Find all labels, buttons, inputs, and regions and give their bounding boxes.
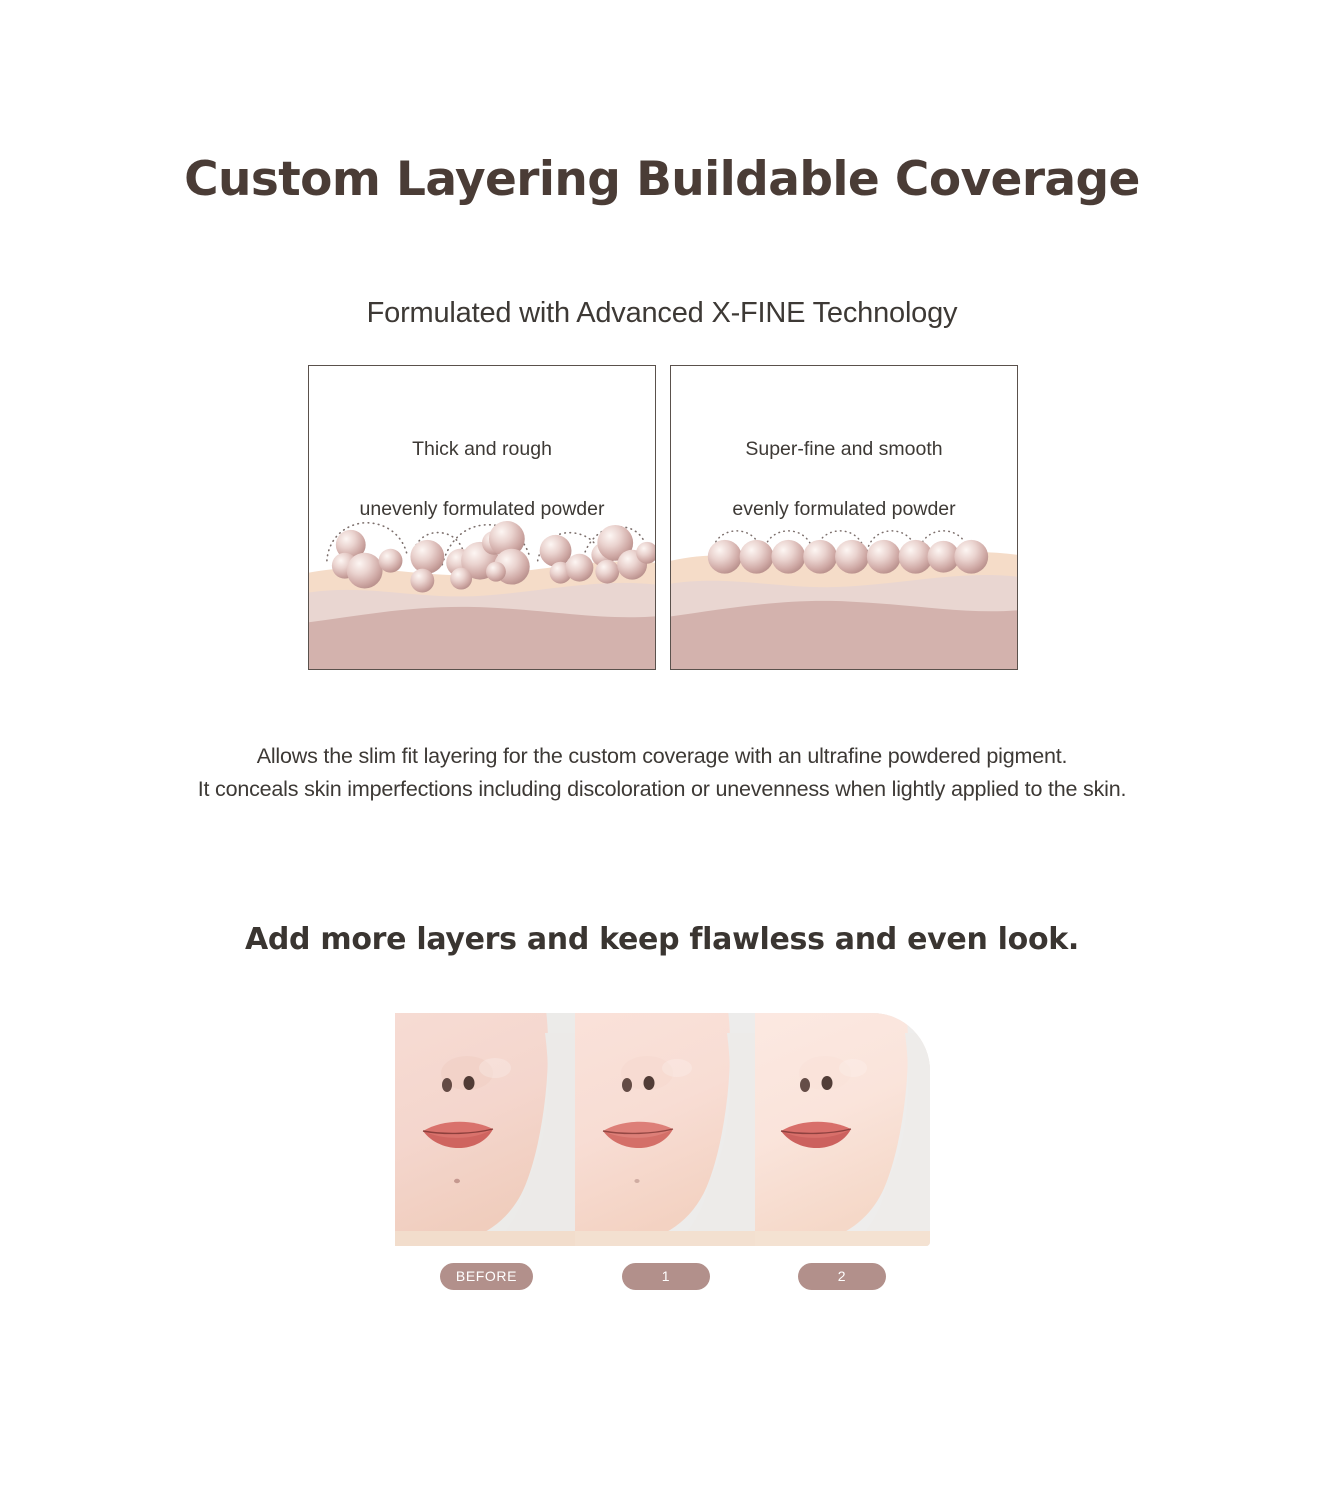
label-before: BEFORE xyxy=(440,1263,533,1290)
face-photo-icon xyxy=(575,1013,755,1246)
face-photo-icon xyxy=(755,1013,930,1246)
panel-caption-left-line1: Thick and rough xyxy=(412,438,552,460)
panel-caption-right: Super-fine and smooth evenly formulated … xyxy=(671,404,1017,524)
panel-caption-left-line2: unevenly formulated powder xyxy=(360,498,605,520)
subtitle: Formulated with Advanced X-FINE Technolo… xyxy=(0,297,1324,330)
label-one-layer: 1 LAYER xyxy=(622,1263,710,1290)
panel-thick-rough: Thick and rough unevenly formulated powd… xyxy=(308,365,656,670)
description-line-1: Allows the slim fit layering for the cus… xyxy=(0,740,1324,773)
face-photo-icon xyxy=(395,1013,575,1246)
before-after-photo-strip xyxy=(395,1013,930,1246)
photo-label-row: BEFORE 1 LAYER 2 LAYER xyxy=(395,1263,930,1291)
description-line-2: It conceals skin imperfections including… xyxy=(0,773,1324,806)
photo-two-layer xyxy=(755,1013,930,1246)
label-two-layer: 2 LAYER xyxy=(798,1263,886,1290)
panel-superfine-smooth: Super-fine and smooth evenly formulated … xyxy=(670,365,1018,670)
panel-caption-right-line1: Super-fine and smooth xyxy=(745,438,942,460)
section-heading-layers: Add more layers and keep flawless and ev… xyxy=(0,922,1324,957)
panel-caption-left: Thick and rough unevenly formulated powd… xyxy=(309,404,655,524)
photo-one-layer xyxy=(575,1013,755,1246)
technology-comparison: Thick and rough unevenly formulated powd… xyxy=(308,365,1016,672)
page-title: Custom Layering Buildable Coverage xyxy=(0,152,1324,207)
panel-caption-right-line2: evenly formulated powder xyxy=(732,498,955,520)
photo-before xyxy=(395,1013,575,1246)
product-detail-page: Custom Layering Buildable Coverage Formu… xyxy=(0,0,1324,1500)
description-paragraph: Allows the slim fit layering for the cus… xyxy=(0,740,1324,806)
